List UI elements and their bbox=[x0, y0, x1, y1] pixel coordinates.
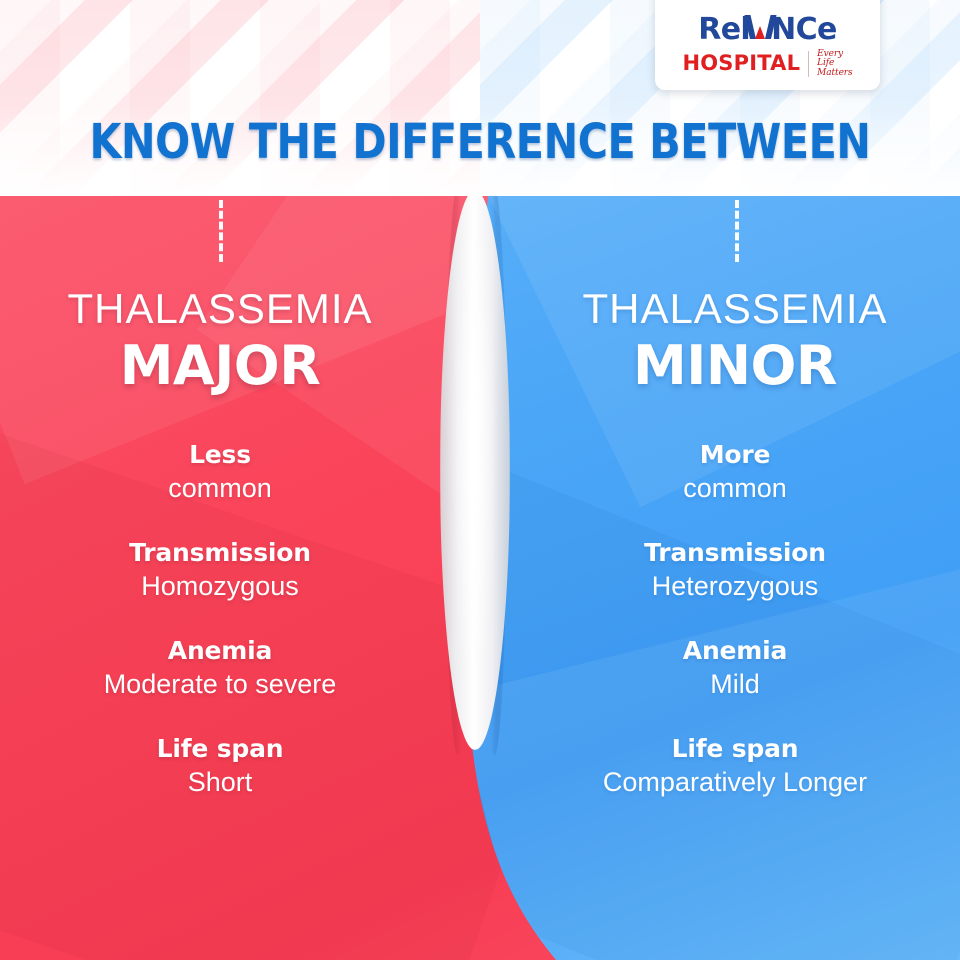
list-item: Transmission Heterozygous bbox=[520, 536, 950, 604]
row-value: Moderate to severe bbox=[5, 667, 435, 702]
list-item: Anemia Mild bbox=[520, 634, 950, 702]
logo-subline: HOSPITAL Every Life Matters bbox=[682, 50, 852, 79]
hospital-wordmark: HOSPITAL bbox=[682, 53, 800, 74]
dashed-connector-left bbox=[219, 200, 223, 262]
row-value: Short bbox=[5, 765, 435, 800]
right-column-rows: More common Transmission Heterozygous An… bbox=[520, 438, 950, 830]
reliance-wordmark: Rel NCe bbox=[698, 15, 837, 45]
reliance-wordmark-part1: Rel bbox=[698, 15, 750, 45]
row-value: common bbox=[520, 471, 950, 506]
triangle-red-fill bbox=[755, 26, 765, 39]
logo-vertical-divider bbox=[808, 51, 809, 77]
row-label: Life span bbox=[520, 732, 950, 765]
right-column-kicker: THALASSEMIA bbox=[520, 286, 950, 332]
comparison-panels: THALASSEMIA MAJOR Less common Transmissi… bbox=[0, 196, 960, 960]
tagline-line-3: Matters bbox=[817, 68, 852, 78]
row-value: common bbox=[5, 471, 435, 506]
page-title: KNOW THE DIFFERENCE BETWEEN bbox=[67, 116, 893, 168]
left-column-rows: Less common Transmission Homozygous Anem… bbox=[5, 438, 435, 830]
row-label: Transmission bbox=[520, 536, 950, 569]
row-label: Anemia bbox=[5, 634, 435, 667]
dashed-connector-right bbox=[735, 200, 739, 262]
row-label: Less bbox=[5, 438, 435, 471]
right-column-title: MINOR bbox=[520, 336, 950, 396]
list-item: Anemia Moderate to severe bbox=[5, 634, 435, 702]
left-column-kicker: THALASSEMIA bbox=[5, 286, 435, 332]
tagline-line-1: Every bbox=[817, 49, 843, 59]
row-label: More bbox=[520, 438, 950, 471]
list-item: More common bbox=[520, 438, 950, 506]
left-column-title: MAJOR bbox=[5, 336, 435, 396]
row-value: Comparatively Longer bbox=[520, 765, 950, 800]
list-item: Life span Comparatively Longer bbox=[520, 732, 950, 800]
row-label: Transmission bbox=[5, 536, 435, 569]
brand-logo-card: Rel NCe HOSPITAL Every Life Matters bbox=[655, 0, 880, 90]
row-value: Homozygous bbox=[5, 569, 435, 604]
reliance-wordmark-part2: NCe bbox=[771, 15, 837, 45]
tagline-line-2: Life bbox=[817, 58, 834, 68]
list-item: Transmission Homozygous bbox=[5, 536, 435, 604]
row-label: Anemia bbox=[520, 634, 950, 667]
row-value: Mild bbox=[520, 667, 950, 702]
brand-tagline: Every Life Matters bbox=[817, 50, 852, 79]
reliance-triangle-a-icon bbox=[750, 15, 771, 39]
list-item: Less common bbox=[5, 438, 435, 506]
row-label: Life span bbox=[5, 732, 435, 765]
list-item: Life span Short bbox=[5, 732, 435, 800]
row-value: Heterozygous bbox=[520, 569, 950, 604]
infographic-poster: Rel NCe HOSPITAL Every Life Matters KNOW… bbox=[0, 0, 960, 960]
